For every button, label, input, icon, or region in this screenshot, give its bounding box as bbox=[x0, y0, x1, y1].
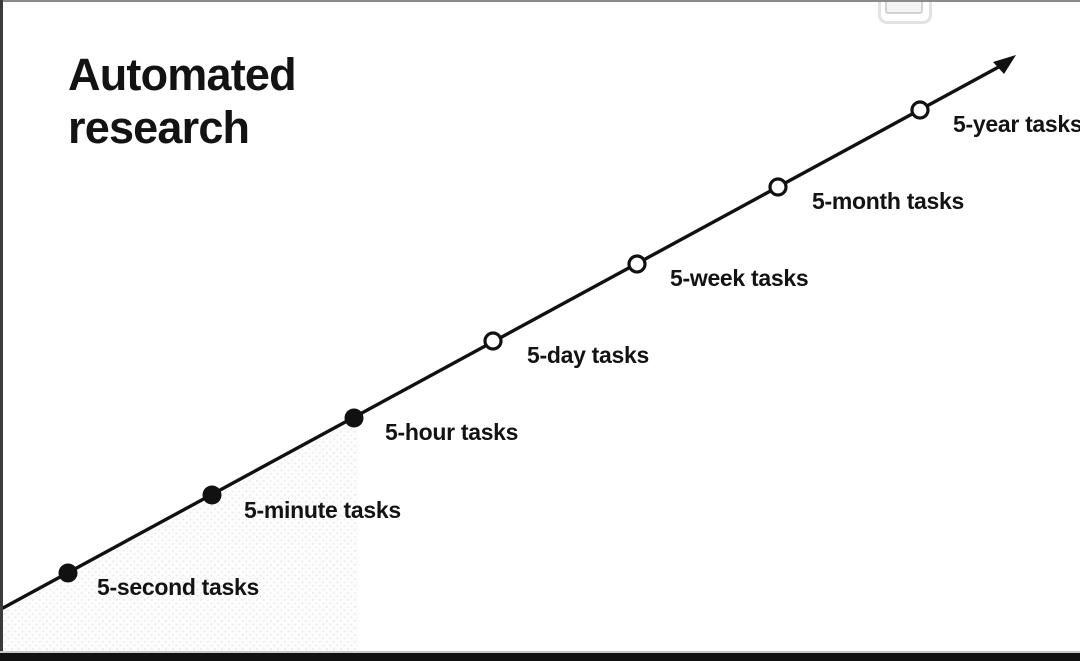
frame-left-rule bbox=[0, 0, 3, 661]
screen-share-icon-inner bbox=[885, 0, 923, 14]
data-label-5-second-tasks: 5-second tasks bbox=[97, 574, 259, 601]
slide-canvas: Automated research 5-second tasks 5-minu… bbox=[0, 0, 1080, 661]
page-title: Automated research bbox=[68, 48, 488, 154]
data-label-5-week-tasks: 5-week tasks bbox=[670, 265, 808, 292]
data-point-marker bbox=[770, 179, 786, 195]
data-point-marker bbox=[345, 409, 364, 428]
data-label-5-year-tasks: 5-year tasks bbox=[953, 111, 1080, 138]
data-label-5-day-tasks: 5-day tasks bbox=[527, 342, 649, 369]
data-point-marker bbox=[629, 256, 645, 272]
achieved-region-shading bbox=[0, 418, 358, 653]
frame-top-rule bbox=[0, 0, 1080, 2]
data-label-5-month-tasks: 5-month tasks bbox=[812, 188, 964, 215]
data-label-5-hour-tasks: 5-hour tasks bbox=[385, 419, 518, 446]
arrowhead-icon bbox=[993, 55, 1016, 74]
data-point-marker bbox=[485, 333, 501, 349]
data-label-5-minute-tasks: 5-minute tasks bbox=[244, 497, 401, 524]
frame-bottom-band bbox=[0, 653, 1080, 661]
data-point-marker bbox=[59, 564, 78, 583]
data-point-marker bbox=[203, 486, 222, 505]
data-point-marker bbox=[912, 102, 928, 118]
